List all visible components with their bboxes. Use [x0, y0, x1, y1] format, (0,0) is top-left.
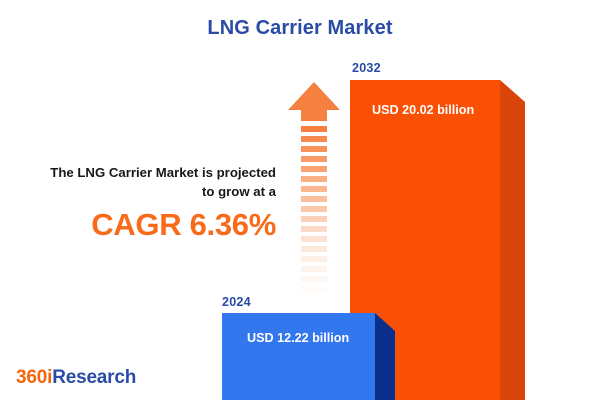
bar-2024-value-label: USD 12.22 billion	[247, 331, 349, 345]
bar-2032-side-panel	[500, 80, 525, 400]
logo-text-orange: 360i	[16, 367, 52, 388]
brand-logo: 360iResearch	[16, 367, 136, 389]
bar-2024-year-label: 2024	[222, 295, 251, 309]
infographic-canvas: LNG Carrier Market The LNG Carrier Marke…	[0, 0, 600, 400]
bar-2024-side-panel	[375, 313, 395, 400]
bar-2024-face	[222, 313, 375, 400]
bar-2024: 2024 USD 12.22 billion	[222, 313, 395, 400]
cagr-value-text: CAGR 6.36%	[14, 208, 276, 242]
upward-growth-arrow-icon	[286, 80, 342, 300]
page-title: LNG Carrier Market	[0, 17, 600, 40]
logo-text-blue: Research	[52, 367, 136, 388]
cagr-lead-line-1: The LNG Carrier Market is projected	[50, 165, 276, 180]
cagr-callout: The LNG Carrier Market is projected to g…	[14, 163, 276, 242]
bar-2032-value-label: USD 20.02 billion	[372, 103, 474, 117]
bar-2032-year-label: 2032	[352, 61, 381, 75]
cagr-lead-text: The LNG Carrier Market is projected to g…	[14, 163, 276, 201]
cagr-lead-line-2: to grow at a	[202, 184, 276, 199]
